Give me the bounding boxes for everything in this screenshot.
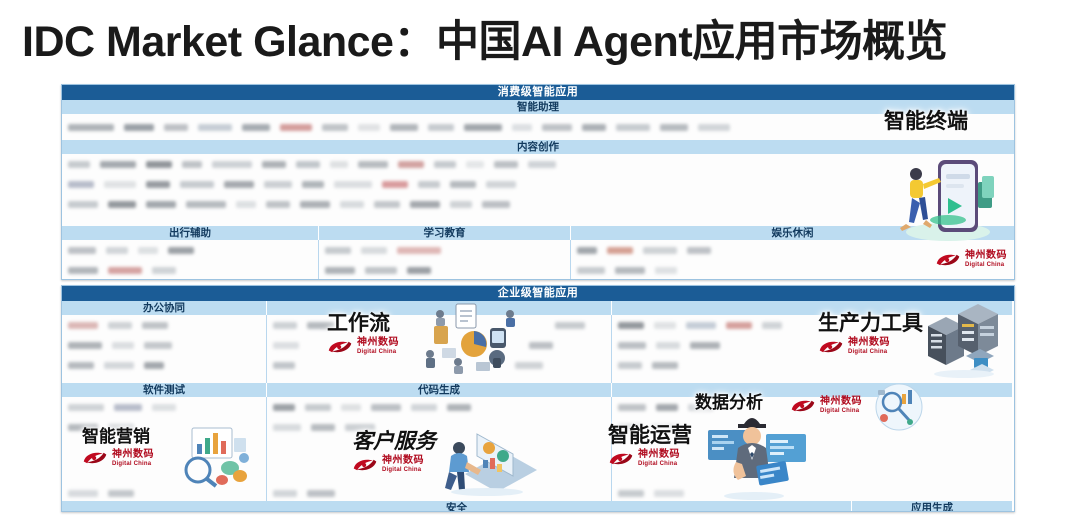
brand-cn: 神州数码 bbox=[357, 338, 399, 348]
enterprise-logo-columns-2 bbox=[62, 397, 1014, 443]
consumer-band-row-three: 出行辅助 学习教育 娱乐休闲 bbox=[62, 226, 1014, 240]
consumer-logo-grid-content bbox=[62, 154, 1014, 226]
brand-en: Digital China bbox=[112, 461, 154, 467]
enterprise-band-security: 安全 bbox=[62, 501, 852, 512]
callout-smart-terminal-label: 智能终端 bbox=[884, 110, 968, 133]
consumer-band-smart-assistant: 智能助理 bbox=[62, 100, 1014, 114]
brand-en: Digital China bbox=[820, 408, 862, 414]
enterprise-band-row-2: 软件测试 代码生成 bbox=[62, 383, 1014, 397]
brand-cn: 神州数码 bbox=[382, 456, 424, 466]
brand-logo-smart-operations: 神州数码 Digital China bbox=[608, 450, 680, 467]
brand-logo-smart-marketing: 神州数码 Digital China bbox=[82, 450, 154, 467]
callout-productivity-tools-label: 生产力工具 bbox=[818, 312, 923, 335]
consumer-band-education: 学习教育 bbox=[319, 226, 571, 240]
brand-en: Digital China bbox=[848, 349, 890, 355]
enterprise-band-row1-middle bbox=[267, 301, 612, 315]
brand-logo-workflow: 神州数码 Digital China bbox=[327, 338, 399, 355]
enterprise-band-office-collab: 办公协同 bbox=[62, 301, 267, 315]
callout-customer-service-label: 客户服务 bbox=[352, 430, 436, 453]
brand-en: Digital China bbox=[357, 349, 399, 355]
callout-smart-operations-label: 智能运营 bbox=[608, 424, 692, 447]
consumer-logo-grid-assistant bbox=[62, 114, 1014, 140]
callout-smart-terminal: 智能终端 bbox=[884, 110, 968, 133]
consumer-section-panel: 消费级智能应用 智能助理 bbox=[61, 84, 1015, 280]
callout-smart-marketing: 智能营销 神州数码 Digital China bbox=[82, 428, 154, 467]
brand-en: Digital China bbox=[382, 467, 424, 473]
consumer-band-entertainment: 娱乐休闲 bbox=[571, 226, 1014, 240]
enterprise-band-row-3: 安全 应用生成 bbox=[62, 501, 1014, 512]
brand-en: Digital China bbox=[965, 262, 1007, 268]
page-title: IDC Market Glance：中国AI Agent应用市场概览 bbox=[22, 14, 1062, 70]
digital-china-swirl-icon bbox=[818, 339, 844, 355]
enterprise-logo-columns-3 bbox=[62, 443, 1014, 501]
enterprise-band-row2-right bbox=[612, 383, 1012, 397]
digital-china-swirl-icon bbox=[82, 450, 108, 466]
enterprise-band-code-generation: 代码生成 bbox=[267, 383, 612, 397]
brand-cn: 神州数码 bbox=[638, 450, 680, 460]
brand-cn: 神州数码 bbox=[848, 338, 890, 348]
brand-cn: 神州数码 bbox=[112, 450, 154, 460]
enterprise-section-header: 企业级智能应用 bbox=[62, 286, 1014, 301]
digital-china-swirl-icon bbox=[608, 451, 634, 467]
brand-cn: 神州数码 bbox=[965, 251, 1007, 261]
brand-logo-customer-service: 神州数码 Digital China bbox=[352, 456, 424, 473]
digital-china-swirl-icon bbox=[790, 398, 816, 414]
callout-data-analysis-label: 数据分析 bbox=[695, 394, 763, 413]
consumer-section-header: 消费级智能应用 bbox=[62, 85, 1014, 100]
brand-logo-productivity: 神州数码 Digital China bbox=[818, 338, 890, 355]
brand-logo-smart-terminal: 神州数码 Digital China bbox=[935, 251, 1007, 268]
brand-logo-data-analysis: 神州数码 Digital China bbox=[790, 397, 862, 414]
slide-canvas: IDC Market Glance：中国AI Agent应用市场概览 消费级智能… bbox=[0, 0, 1080, 525]
digital-china-swirl-icon bbox=[935, 252, 961, 268]
enterprise-band-row1-right bbox=[612, 301, 1012, 315]
digital-china-swirl-icon bbox=[352, 457, 378, 473]
enterprise-band-app-generation: 应用生成 bbox=[852, 501, 1012, 512]
consumer-band-travel: 出行辅助 bbox=[62, 226, 319, 240]
consumer-logo-columns bbox=[62, 240, 1014, 280]
callout-productivity-tools: 生产力工具 神州数码 Digital China bbox=[818, 312, 923, 355]
digital-china-swirl-icon bbox=[327, 339, 353, 355]
enterprise-band-software-testing: 软件测试 bbox=[62, 383, 267, 397]
callout-customer-service: 客户服务 神州数码 Digital China bbox=[352, 430, 436, 473]
callout-workflow-label: 工作流 bbox=[327, 312, 390, 335]
callout-data-analysis: 数据分析 bbox=[695, 394, 763, 413]
consumer-band-content-creation: 内容创作 bbox=[62, 140, 1014, 154]
brand-en: Digital China bbox=[638, 461, 680, 467]
callout-workflow: 工作流 神州数码 Digital China bbox=[327, 312, 399, 355]
brand-cn: 神州数码 bbox=[820, 397, 862, 407]
callout-smart-operations: 智能运营 神州数码 Digital China bbox=[608, 424, 692, 467]
callout-smart-marketing-label: 智能营销 bbox=[82, 428, 150, 447]
